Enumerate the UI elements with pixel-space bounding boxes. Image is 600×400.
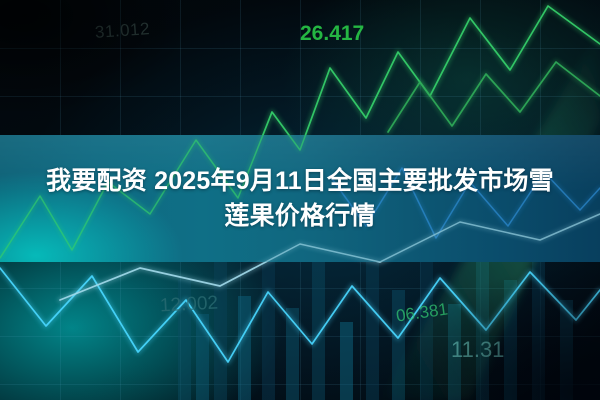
ticker-value-12002: 12.002	[159, 292, 218, 317]
banner-image: 31.012 26.417 12.002 06.381 11.31 我要配资 2…	[0, 0, 600, 400]
ticker-value-26417: 26.417	[300, 22, 364, 46]
ticker-value-31012: 31.012	[94, 19, 150, 43]
banner-title-line-2: 莲果价格行情	[224, 200, 375, 233]
ticker-value-1131: 11.31	[451, 337, 504, 363]
banner-title: 我要配资 2025年9月11日全国主要批发市场雪 莲果价格行情	[0, 135, 600, 262]
banner-title-line-1: 我要配资 2025年9月11日全国主要批发市场雪	[46, 165, 554, 198]
